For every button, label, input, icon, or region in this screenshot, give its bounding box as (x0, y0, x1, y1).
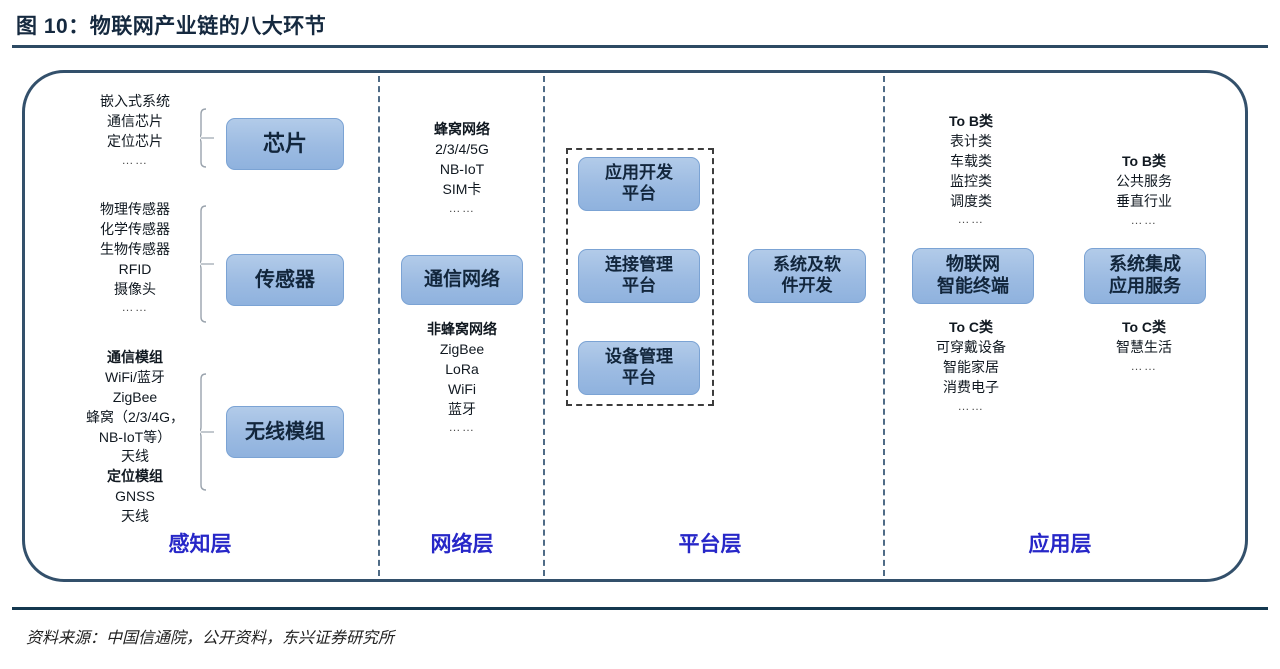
iot-smart-terminal-box[interactable]: 物联网 智能终端 (912, 248, 1034, 304)
terminal-toc-list: To C类 可穿戴设备 智能家居 消费电子 …… (905, 318, 1037, 415)
sensor-box[interactable]: 传感器 (226, 254, 344, 306)
comm-module-item-3: NB-IoT等） (55, 428, 215, 448)
sensor-item-3: RFID (60, 260, 210, 280)
layer-label-platform: 平台层 (645, 528, 775, 558)
module-item-list: 通信模组 WiFi/蓝牙 ZigBee 蜂窝（2/3/4G， NB-IoT等） … (55, 348, 215, 527)
pos-module-title: 定位模组 (55, 467, 215, 487)
comm-module-item-4: 天线 (55, 447, 215, 467)
layer-label-network: 网络层 (400, 528, 524, 558)
divider-network-platform (543, 76, 545, 576)
connection-mgmt-platform-line2: 平台 (622, 276, 656, 297)
noncellular-item-2: WiFi (398, 380, 526, 400)
terminal-tob-item-1: 车载类 (905, 152, 1037, 172)
cellular-title: 蜂窝网络 (398, 120, 526, 140)
device-mgmt-platform-line2: 平台 (622, 368, 656, 389)
terminal-tob-ellipsis: …… (905, 211, 1037, 228)
system-integration-line2: 应用服务 (1109, 276, 1181, 298)
connection-mgmt-platform-line1: 连接管理 (605, 255, 673, 276)
comm-module-item-0: WiFi/蓝牙 (55, 368, 215, 388)
chip-box-label: 芯片 (263, 131, 307, 158)
chip-item-2: 定位芯片 (60, 132, 210, 152)
terminal-tob-item-0: 表计类 (905, 132, 1037, 152)
system-software-dev-box[interactable]: 系统及软 件开发 (748, 249, 866, 303)
pos-module-item-1: 天线 (55, 507, 215, 527)
noncellular-item-3: 蓝牙 (398, 400, 526, 420)
wireless-module-box-label: 无线模组 (245, 420, 325, 444)
cellular-item-2: SIM卡 (398, 180, 526, 200)
cellular-ellipsis: …… (398, 200, 526, 217)
terminal-toc-ellipsis: …… (905, 398, 1037, 415)
module-bracket (200, 373, 222, 491)
app-dev-platform-box[interactable]: 应用开发 平台 (578, 157, 700, 211)
footer-divider-rule (12, 607, 1268, 610)
integration-tob-title: To B类 (1078, 152, 1210, 172)
connection-mgmt-platform-box[interactable]: 连接管理 平台 (578, 249, 700, 303)
divider-platform-application (883, 76, 885, 576)
terminal-toc-title: To C类 (905, 318, 1037, 338)
sensor-item-list: 物理传感器 化学传感器 生物传感器 RFID 摄像头 …… (60, 200, 210, 316)
terminal-tob-title: To B类 (905, 112, 1037, 132)
sensor-bracket (200, 205, 222, 323)
chip-item-1: 通信芯片 (60, 112, 210, 132)
chip-item-0: 嵌入式系统 (60, 92, 210, 112)
integration-tob-ellipsis: …… (1078, 212, 1210, 229)
layer-label-application: 应用层 (995, 528, 1125, 558)
cellular-network-list: 蜂窝网络 2/3/4/5G NB-IoT SIM卡 …… (398, 120, 526, 217)
device-mgmt-platform-box[interactable]: 设备管理 平台 (578, 341, 700, 395)
wireless-module-box[interactable]: 无线模组 (226, 406, 344, 458)
noncellular-title: 非蜂窝网络 (398, 320, 526, 340)
terminal-tob-list: To B类 表计类 车载类 监控类 调度类 …… (905, 112, 1037, 228)
noncellular-network-list: 非蜂窝网络 ZigBee LoRa WiFi 蓝牙 …… (398, 320, 526, 436)
page-title: 图 10：物联网产业链的八大环节 (16, 10, 326, 40)
terminal-toc-item-1: 智能家居 (905, 358, 1037, 378)
cellular-item-0: 2/3/4/5G (398, 140, 526, 160)
sensor-box-label: 传感器 (255, 268, 315, 292)
pos-module-item-0: GNSS (55, 487, 215, 507)
system-software-dev-line2: 件开发 (782, 276, 833, 297)
app-dev-platform-line2: 平台 (622, 184, 656, 205)
iot-smart-terminal-line2: 智能终端 (937, 276, 1009, 298)
sensor-item-0: 物理传感器 (60, 200, 210, 220)
communication-network-box[interactable]: 通信网络 (401, 255, 523, 305)
terminal-toc-item-2: 消费电子 (905, 378, 1037, 398)
iot-smart-terminal-line1: 物联网 (946, 254, 1000, 276)
chip-ellipsis: …… (60, 152, 210, 169)
title-divider-rule (12, 45, 1268, 48)
integration-toc-list: To C类 智慧生活 …… (1078, 318, 1210, 375)
terminal-tob-item-2: 监控类 (905, 172, 1037, 192)
source-note: 资料来源：中国信通院，公开资料，东兴证券研究所 (26, 624, 394, 648)
sensor-item-2: 生物传感器 (60, 240, 210, 260)
integration-toc-item-0: 智慧生活 (1078, 338, 1210, 358)
divider-perception-network (378, 76, 380, 576)
integration-toc-ellipsis: …… (1078, 358, 1210, 375)
comm-module-item-2: 蜂窝（2/3/4G， (55, 408, 215, 428)
integration-tob-list: To B类 公共服务 垂直行业 …… (1078, 152, 1210, 229)
noncellular-item-1: LoRa (398, 360, 526, 380)
sensor-ellipsis: …… (60, 299, 210, 316)
layer-label-perception: 感知层 (100, 528, 300, 558)
integration-tob-item-0: 公共服务 (1078, 172, 1210, 192)
terminal-tob-item-3: 调度类 (905, 192, 1037, 212)
sensor-item-1: 化学传感器 (60, 220, 210, 240)
comm-module-item-1: ZigBee (55, 388, 215, 408)
system-integration-box[interactable]: 系统集成 应用服务 (1084, 248, 1206, 304)
chip-item-list: 嵌入式系统 通信芯片 定位芯片 …… (60, 92, 210, 169)
system-software-dev-line1: 系统及软 (773, 255, 841, 276)
cellular-item-1: NB-IoT (398, 160, 526, 180)
terminal-toc-item-0: 可穿戴设备 (905, 338, 1037, 358)
integration-tob-item-1: 垂直行业 (1078, 192, 1210, 212)
app-dev-platform-line1: 应用开发 (605, 163, 673, 184)
sensor-item-4: 摄像头 (60, 280, 210, 300)
device-mgmt-platform-line1: 设备管理 (605, 347, 673, 368)
integration-toc-title: To C类 (1078, 318, 1210, 338)
noncellular-ellipsis: …… (398, 419, 526, 436)
comm-module-title: 通信模组 (55, 348, 215, 368)
communication-network-box-label: 通信网络 (424, 268, 500, 291)
chip-bracket (200, 108, 222, 168)
chip-box[interactable]: 芯片 (226, 118, 344, 170)
noncellular-item-0: ZigBee (398, 340, 526, 360)
system-integration-line1: 系统集成 (1109, 254, 1181, 276)
